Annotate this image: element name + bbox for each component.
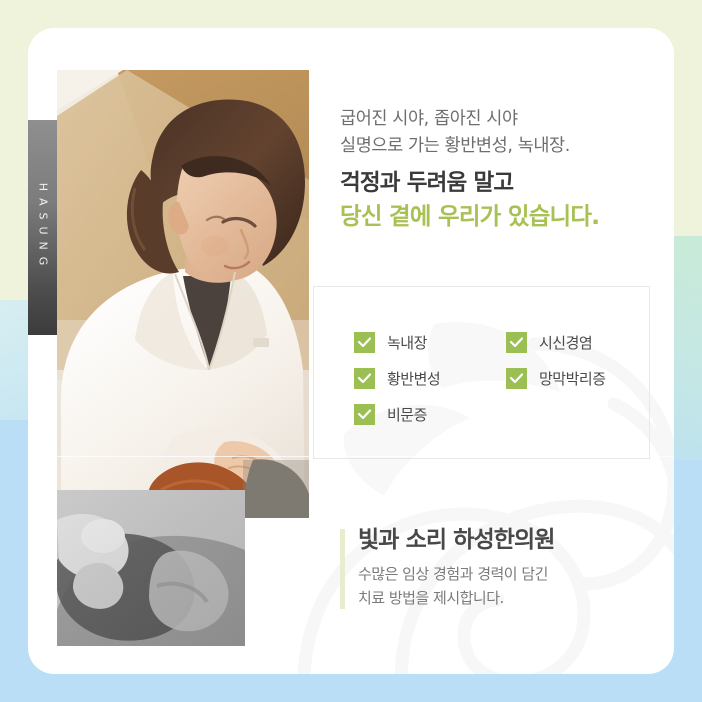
doctor-photo (57, 70, 309, 518)
brand-tab: HASUNG (28, 120, 57, 335)
content-card: HASUNG 굽어진 시야, 좁아진 시야 실명으로 가는 황반변성, 녹내장.… (28, 28, 674, 674)
clinic-name: 빛과 소리 하성한의원 (358, 526, 660, 555)
headline-sub-line1: 굽어진 시야, 좁아진 시야 (340, 106, 660, 133)
clinic-block: 빛과 소리 하성한의원 수많은 임상 경험과 경력이 담긴 치료 방법을 제시합… (340, 526, 660, 610)
check-icon (506, 368, 527, 389)
check-item-retinal-detachment[interactable]: 망막박리증 (506, 368, 634, 389)
clinic-accent-bar (340, 529, 345, 609)
check-label: 황반변성 (387, 368, 440, 389)
check-label: 비문증 (387, 404, 427, 425)
check-icon (354, 368, 375, 389)
headline-block: 굽어진 시야, 좁아진 시야 실명으로 가는 황반변성, 녹내장. 걱정과 두려… (340, 106, 660, 234)
check-icon (506, 332, 527, 353)
brand-tab-label: HASUNG (36, 183, 49, 273)
check-icon (354, 332, 375, 353)
check-item-optic-neuritis[interactable]: 시신경염 (506, 332, 634, 353)
check-label: 망막박리증 (539, 368, 606, 389)
clinic-description: 수많은 임상 경험과 경력이 담긴 치료 방법을 제시합니다. (358, 562, 660, 611)
checklist: 녹내장 시신경염 황반변성 망막박리증 (354, 324, 634, 432)
headline-sub-line2: 실명으로 가는 황반변성, 녹내장. (340, 133, 660, 160)
check-item-floaters[interactable]: 비문증 (354, 404, 506, 425)
check-item-macular-degeneration[interactable]: 황반변성 (354, 368, 506, 389)
treatment-photo (57, 490, 245, 646)
check-label: 녹내장 (387, 332, 427, 353)
clinic-description-line2: 치료 방법을 제시합니다. (358, 586, 660, 610)
headline-accent-line: 당신 곁에 우리가 있습니다. (340, 200, 660, 233)
check-label: 시신경염 (539, 332, 592, 353)
poster-root: HASUNG 굽어진 시야, 좁아진 시야 실명으로 가는 황반변성, 녹내장.… (0, 0, 702, 702)
clinic-description-line1: 수많은 임상 경험과 경력이 담긴 (358, 562, 660, 586)
check-item-glaucoma[interactable]: 녹내장 (354, 332, 506, 353)
check-icon (354, 404, 375, 425)
headline-main-line: 걱정과 두려움 말고 (340, 168, 660, 200)
